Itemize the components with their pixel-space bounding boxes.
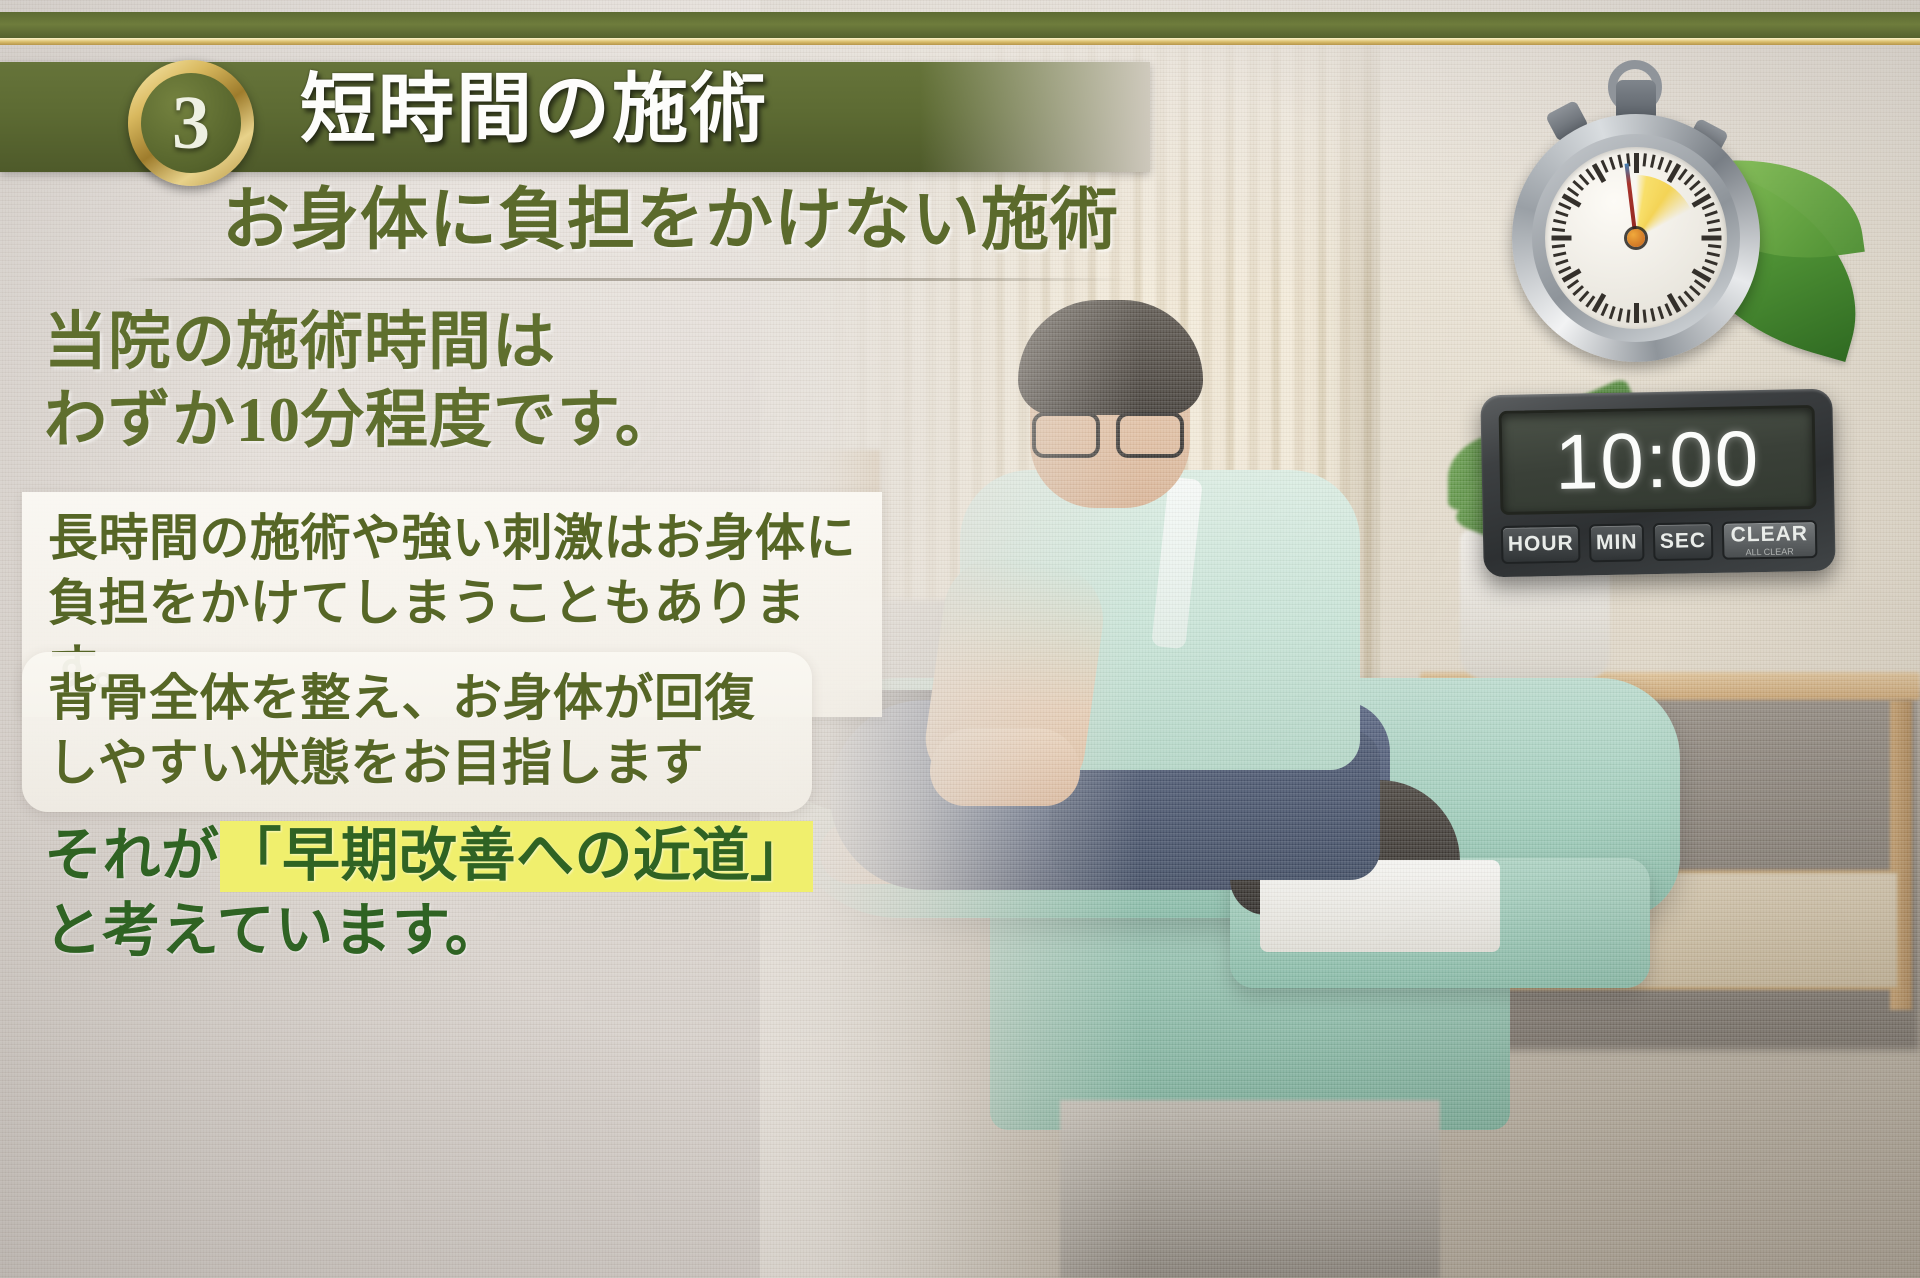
stopwatch-tick [1704,210,1717,217]
stopwatch-tick [1642,309,1646,322]
stopwatch-tick [1608,306,1615,319]
stopwatch-tick [1555,210,1568,217]
stopwatch-tick [1706,219,1719,225]
stopwatch-tick [1553,219,1566,225]
stopwatch-tick [1657,157,1664,170]
stopwatch-tick [1555,259,1568,266]
spine-panel-line-1: 背骨全体を整え、お身体が回復 [48,666,790,731]
spine-panel-line-2: しやすい状態をお目指します [48,731,790,796]
stopwatch-tick [1689,285,1701,296]
stopwatch-tick [1664,303,1672,316]
stopwatch-tick [1572,180,1584,191]
closing-prefix: それが [44,823,220,888]
subtitle-divider [120,278,1130,281]
stopwatch-tick [1551,236,1571,241]
stopwatch-tick [1585,168,1595,180]
stopwatch-motion-trail [1636,175,1698,239]
stopwatch-center-pin [1627,229,1645,247]
top-green-band [0,12,1920,38]
stopwatch-tick [1677,168,1687,180]
stopwatch-tick [1693,279,1705,289]
closing-line-2: と考えています。 [44,893,813,968]
stopwatch-tick [1553,252,1566,258]
stopwatch-tick [1683,291,1694,303]
stopwatch-tick [1704,259,1717,266]
stopwatch-tick [1707,228,1720,232]
timer-hour-button[interactable]: HOUR [1501,525,1581,565]
stopwatch-tick [1600,160,1608,173]
stopwatch-tick [1701,202,1714,210]
stopwatch-tick [1689,180,1701,191]
badge-inner-disc: 3 [141,73,241,173]
badge-number-label: 3 [172,85,210,161]
lead-line-1: 当院の施術時間は [44,306,556,379]
stopwatch-tick [1634,153,1639,173]
stopwatch-tick [1626,309,1630,322]
stopwatch-tick [1617,155,1623,168]
stopwatch-tick [1650,155,1656,168]
spine-panel: 背骨全体を整え、お身体が回復 しやすい状態をお目指します [22,652,812,812]
stopwatch-tick [1707,244,1720,248]
top-gold-line [0,38,1920,45]
stopwatch-tick [1600,303,1608,316]
timer-sec-button[interactable]: SEC [1653,522,1713,561]
stopwatch-case [1512,114,1760,362]
closing-line-1: それが「早期改善への近道」 [44,818,813,893]
timer-clear-sublabel: ALL CLEAR [1745,546,1793,557]
stopwatch-tick [1657,306,1664,319]
slide-canvas: 3 短時間の施術 お身体に負担をかけない施術 当院の施術時間は わずか10分程度… [0,0,1920,1278]
section-subtitle: お身体に負担をかけない施術 [222,186,1119,254]
stopwatch-tick [1551,228,1564,232]
burden-panel-line-1: 長時間の施術や強い刺激はお身体に [48,506,860,571]
stopwatch-tick [1578,291,1589,303]
stopwatch-tick [1642,153,1646,166]
stopwatch-tick [1664,160,1672,173]
stopwatch-bezel [1532,134,1740,342]
section-title: 短時間の施術 [300,72,768,148]
stopwatch-tick [1650,308,1656,321]
lead-line-2: わずか10分程度です。 [44,384,679,457]
stopwatch-tick [1578,174,1589,186]
timer-min-button[interactable]: MIN [1589,523,1645,562]
stopwatch-tick [1551,244,1564,248]
stopwatch-tick [1608,157,1615,170]
digital-kitchen-timer[interactable]: 10:00 HOUR MIN SEC CLEAR ALL CLEAR [1480,389,1835,578]
closing-statement: それが「早期改善への近道」 と考えています。 [44,818,813,969]
stopwatch-tick [1558,202,1571,210]
stopwatch-tick [1634,303,1639,323]
timer-clear-button[interactable]: CLEAR ALL CLEAR [1721,520,1817,560]
timer-button-row: HOUR MIN SEC CLEAR ALL CLEAR [1501,520,1818,564]
timer-display-value: 10:00 [1554,419,1761,501]
stopwatch-tick [1566,279,1578,289]
stopwatch-tick [1701,236,1721,241]
closing-highlight: 「早期改善への近道」 [220,821,813,892]
timer-clear-label: CLEAR [1730,522,1808,547]
stopwatch-tick [1683,174,1694,186]
number-badge-icon: 3 [128,60,254,186]
stopwatch-tick [1706,252,1719,258]
stopwatch-tick [1617,308,1623,321]
stopwatch-icon [1492,58,1782,348]
stopwatch-tick [1572,285,1584,296]
stopwatch-face [1545,147,1727,329]
timer-display-screen: 10:00 [1499,405,1817,515]
